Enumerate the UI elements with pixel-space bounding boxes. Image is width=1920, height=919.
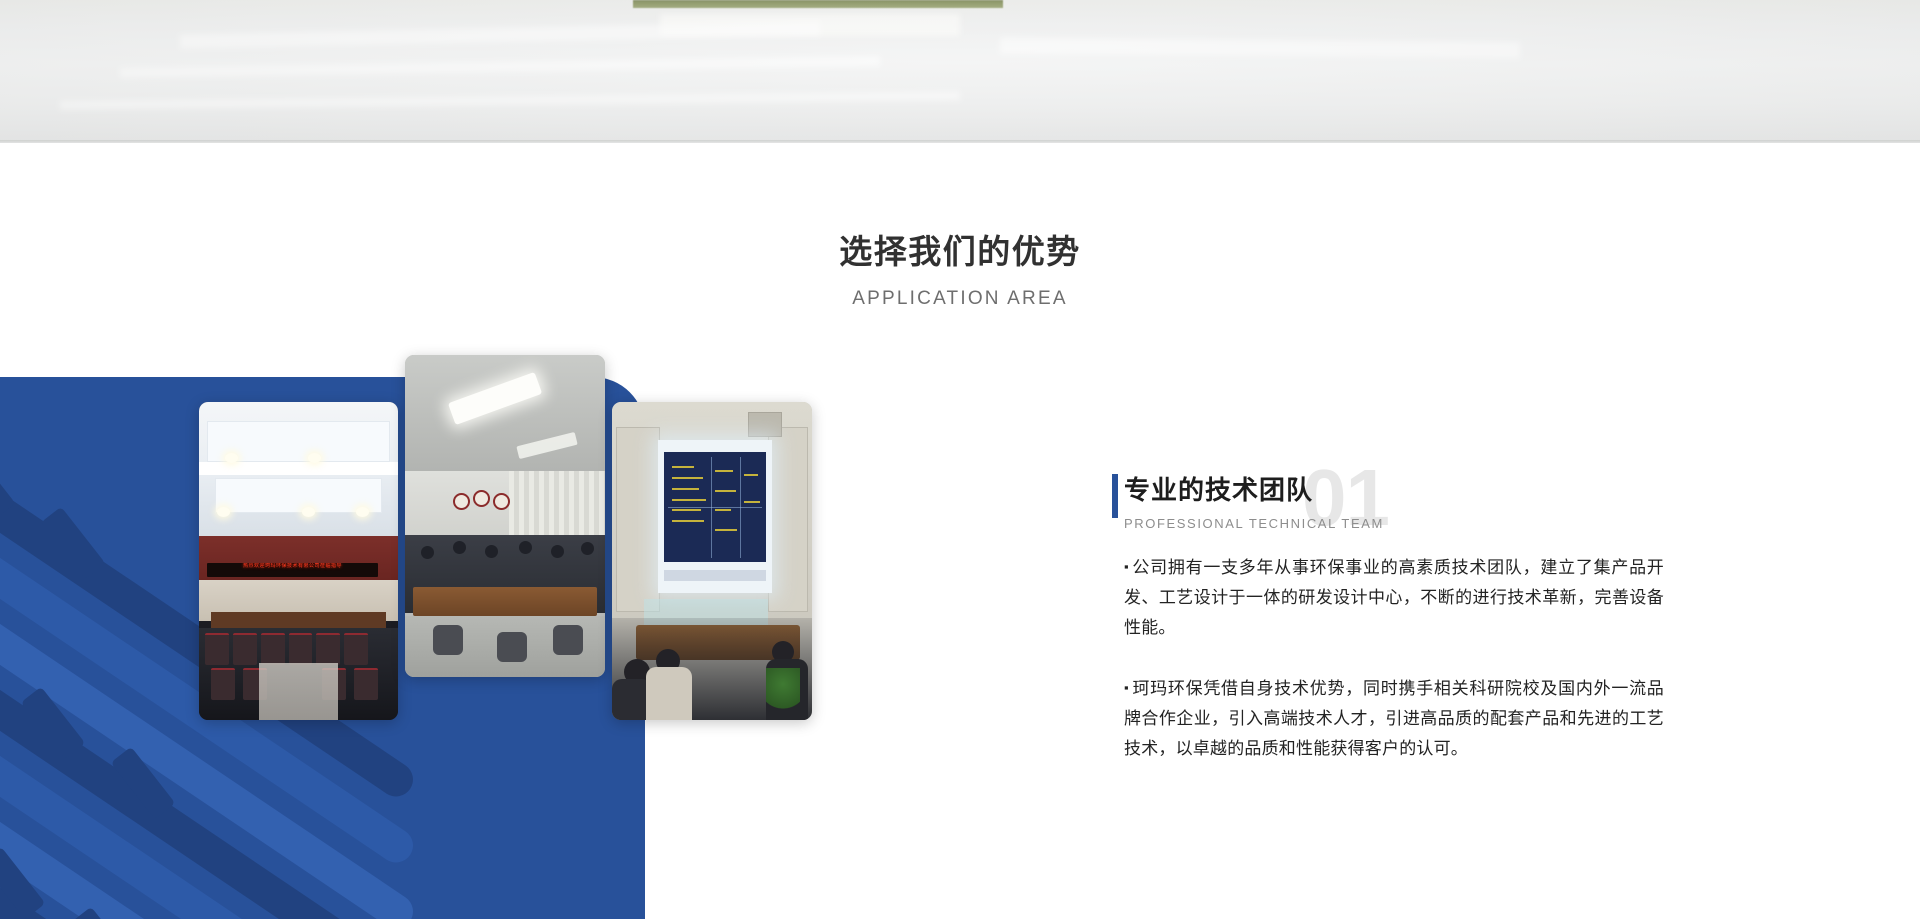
ceiling-beam	[199, 462, 398, 475]
photo-conference-hall: 热烈欢迎珂玛环保技术有限公司莅临指导	[199, 402, 398, 720]
ceiling-light	[217, 507, 230, 517]
ceiling-vent	[748, 412, 782, 437]
feature-paragraph-1: ▪公司拥有一支多年从事环保事业的高素质技术团队，建立了集产品开发、工艺设计于一体…	[1124, 552, 1664, 643]
ceiling-light	[225, 453, 238, 463]
bullet-marker: ▪	[1124, 559, 1129, 574]
accent-bar	[1112, 474, 1118, 518]
cad-drawing	[664, 452, 767, 562]
photo-projector-training	[612, 402, 812, 720]
chair	[553, 625, 583, 655]
chair	[497, 632, 527, 662]
speaker-table	[211, 612, 386, 628]
wall-cabinet	[616, 427, 660, 611]
photo-meeting-room	[405, 355, 605, 677]
page-title: 选择我们的优势	[839, 232, 1081, 272]
hero-banner	[0, 0, 1920, 143]
feature-title-cn: 专业的技术团队	[1124, 470, 1664, 507]
ceiling	[405, 355, 605, 471]
feature-paragraph-2: ▪珂玛环保凭借自身技术优势，同时携手相关科研院校及国内外一流品牌合作企业，引入高…	[1124, 673, 1664, 764]
feature-paragraph-1-text: 公司拥有一支多年从事环保事业的高素质技术团队，建立了集产品开发、工艺设计于一体的…	[1124, 558, 1664, 637]
section-heading: 选择我们的优势 APPLICATION AREA	[0, 143, 1920, 377]
page-subtitle: APPLICATION AREA	[852, 288, 1067, 310]
screen-taskbar	[664, 570, 767, 581]
conference-table	[413, 587, 597, 616]
feature-content: 01 专业的技术团队 PROFESSIONAL TECHNICAL TEAM ▪…	[1124, 470, 1664, 764]
feature-title-en: PROFESSIONAL TECHNICAL TEAM	[1124, 516, 1664, 531]
led-scrolling-banner: 热烈欢迎珂玛环保技术有限公司莅临指导	[207, 563, 378, 577]
page-root: 选择我们的优势 APPLICATION AREA	[0, 0, 1920, 919]
hall-aisle	[259, 663, 339, 720]
chair	[433, 625, 463, 655]
projection-screen	[658, 440, 772, 593]
feature-heading: 01 专业的技术团队 PROFESSIONAL TECHNICAL TEAM	[1124, 470, 1664, 544]
banner-vignette	[0, 0, 1920, 143]
feature-paragraph-2-text: 珂玛环保凭借自身技术优势，同时携手相关科研院校及国内外一流品牌合作企业，引入高端…	[1124, 679, 1664, 758]
bullet-marker: ▪	[1124, 680, 1129, 695]
potted-plant	[766, 668, 800, 714]
wall-cabinet	[768, 427, 808, 611]
